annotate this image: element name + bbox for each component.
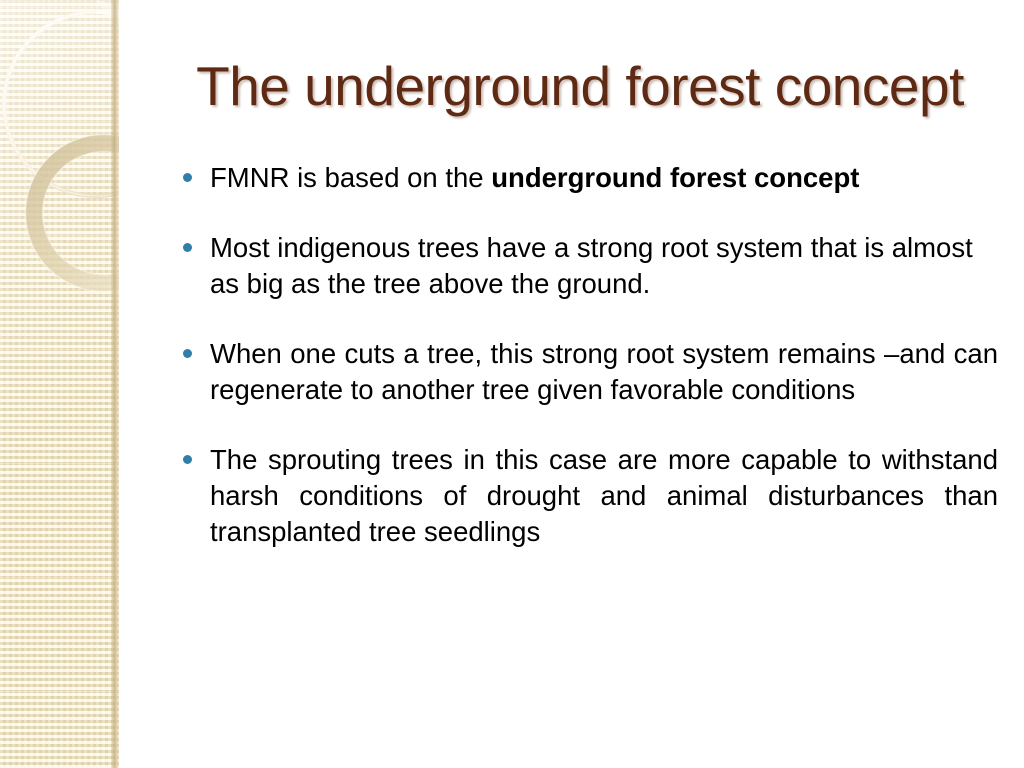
bullet-text-2: Most indigenous trees have a strong root…: [210, 232, 973, 299]
bullet-dot-icon: [183, 173, 192, 182]
list-item: Most indigenous trees have a strong root…: [178, 230, 998, 302]
sidebar-rings-graphic: [0, 0, 119, 430]
list-item: The sprouting trees in this case are mor…: [178, 442, 998, 550]
slide-title: The underground forest concept: [150, 58, 1010, 116]
bullet-text-1-bold: underground forest concept: [491, 162, 859, 193]
small-thick-ring: [34, 143, 119, 283]
list-item: When one cuts a tree, this strong root s…: [178, 336, 998, 408]
bullet-dot-icon: [183, 243, 192, 252]
bullet-list: FMNR is based on the underground forest …: [178, 160, 998, 550]
bullet-text-3: When one cuts a tree, this strong root s…: [210, 338, 998, 405]
bullet-text-1-lead: FMNR is based on the: [210, 162, 491, 193]
decorative-sidebar: [0, 0, 119, 768]
slide-canvas: The underground forest concept FMNR is b…: [0, 0, 1024, 768]
bullet-text-1: FMNR is based on the underground forest …: [210, 162, 859, 193]
bullet-dot-icon: [183, 455, 192, 464]
bullet-text-4: The sprouting trees in this case are mor…: [210, 444, 998, 547]
sidebar-right-edge: [111, 0, 119, 768]
bullet-dot-icon: [183, 349, 192, 358]
list-item: FMNR is based on the underground forest …: [178, 160, 998, 196]
